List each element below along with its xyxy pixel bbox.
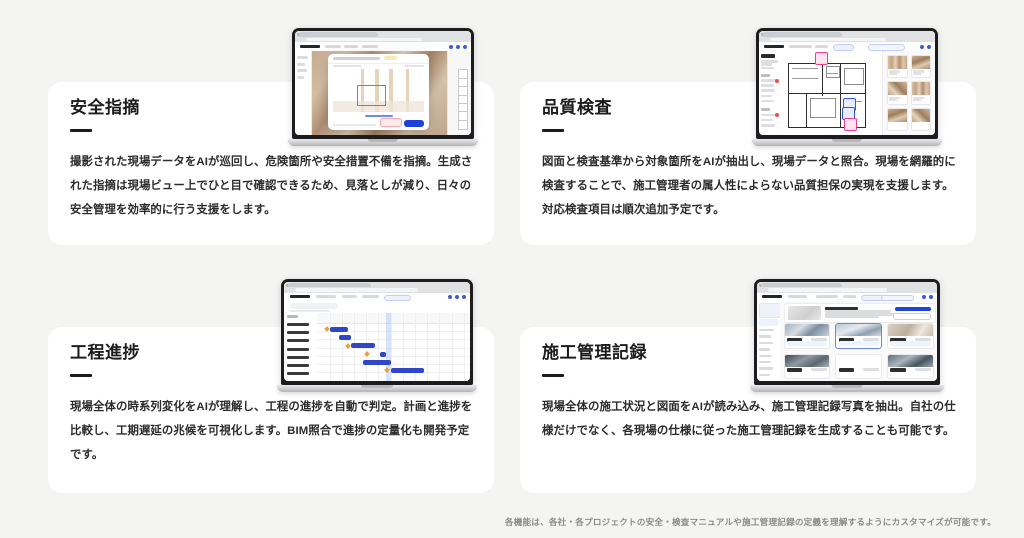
app-logo bbox=[300, 45, 319, 48]
laptop-base bbox=[277, 385, 477, 392]
screen-construction-record bbox=[757, 282, 937, 381]
header-actions-icon[interactable] bbox=[448, 295, 466, 299]
plan-thumbnail[interactable] bbox=[759, 303, 781, 318]
card-body-safety: 撮影された現場データをAIが巡回し、危険箇所や安全措置不備を指摘。生成された指摘… bbox=[70, 151, 474, 222]
title-rule bbox=[542, 129, 564, 132]
card-body-record: 現場全体の施工状況と図面をAIが読み込み、施工管理記録写真を抽出。自社の仕様だけ… bbox=[542, 396, 956, 443]
gantt-bar[interactable] bbox=[339, 335, 351, 340]
finding-photo bbox=[333, 69, 423, 112]
browser-chrome bbox=[284, 282, 470, 293]
gantt-bar[interactable] bbox=[351, 343, 375, 348]
nav-item[interactable] bbox=[362, 45, 378, 48]
severity-badge bbox=[384, 56, 397, 60]
active-view-pill[interactable] bbox=[384, 295, 410, 301]
laptop-base bbox=[750, 385, 944, 392]
gantt-bar[interactable] bbox=[330, 327, 348, 332]
gantt-timeline-header bbox=[317, 313, 470, 324]
header-actions-icon[interactable] bbox=[449, 45, 467, 49]
card-body-quality: 図面と検査基準から対象箇所をAIが抽出し、現場データと照合。現場を網羅的に検査す… bbox=[542, 151, 956, 222]
laptop-base bbox=[752, 139, 942, 146]
record-card[interactable] bbox=[887, 323, 934, 349]
browser-tab[interactable] bbox=[763, 32, 842, 37]
inspection-photo-grid bbox=[882, 51, 935, 135]
secondary-action-button[interactable] bbox=[893, 313, 931, 320]
app-logo bbox=[762, 295, 782, 298]
modal-footnote bbox=[333, 124, 375, 126]
footnote: 各機能は、各社・各プロジェクトの安全・検査マニュアルや施工管理記録の定義を理解す… bbox=[505, 516, 996, 528]
laptop-mockup-quality-inspection-floorplan bbox=[752, 28, 942, 146]
inspection-sidebar bbox=[759, 51, 783, 135]
browser-tab[interactable] bbox=[761, 283, 842, 288]
title-rule bbox=[70, 129, 92, 132]
search-pill[interactable] bbox=[881, 295, 914, 301]
reject-button[interactable] bbox=[380, 118, 402, 127]
browser-chrome bbox=[759, 31, 935, 42]
title-rule bbox=[70, 374, 92, 377]
nav-item[interactable] bbox=[344, 45, 358, 48]
browser-tab[interactable] bbox=[288, 283, 372, 288]
photo-card[interactable] bbox=[911, 55, 931, 78]
laptop-base bbox=[288, 139, 478, 146]
finding-detail-modal[interactable] bbox=[328, 54, 428, 130]
header-actions-icon[interactable] bbox=[920, 45, 931, 49]
nav-item[interactable] bbox=[788, 295, 808, 298]
browser-chrome bbox=[295, 31, 471, 42]
inspection-marker-pink[interactable] bbox=[815, 52, 828, 65]
feature-grid: 安全指摘 撮影された現場データをAIが巡回し、危険箇所や安全措置不備を指摘。生成… bbox=[0, 0, 1024, 538]
gantt-bar[interactable] bbox=[363, 360, 390, 365]
photo-card[interactable] bbox=[911, 81, 931, 104]
record-card[interactable] bbox=[784, 323, 831, 349]
search-pill[interactable] bbox=[868, 44, 905, 50]
modal-meta-left bbox=[333, 65, 361, 68]
record-card[interactable] bbox=[835, 354, 882, 380]
nav-item[interactable] bbox=[362, 295, 379, 298]
task-name-column bbox=[284, 313, 318, 381]
record-card-selected[interactable] bbox=[835, 323, 882, 349]
photo-card[interactable] bbox=[887, 55, 907, 78]
address-bar[interactable] bbox=[306, 38, 422, 41]
screen-quality-inspection bbox=[759, 31, 935, 135]
record-card[interactable] bbox=[784, 354, 831, 380]
nav-item[interactable] bbox=[325, 45, 341, 48]
screen-schedule-gantt bbox=[284, 282, 470, 381]
nav-item[interactable] bbox=[342, 295, 357, 298]
filter-checkbox[interactable] bbox=[290, 310, 331, 312]
nav-item[interactable] bbox=[316, 295, 336, 298]
sidebar-active-item[interactable] bbox=[758, 319, 779, 326]
active-filter-pill[interactable] bbox=[833, 44, 854, 50]
confirm-button[interactable] bbox=[404, 120, 424, 127]
record-sidebar bbox=[757, 301, 781, 381]
detection-bounding-box bbox=[357, 85, 386, 105]
browser-chrome bbox=[757, 282, 937, 293]
modal-link[interactable] bbox=[365, 115, 393, 117]
search-input[interactable] bbox=[290, 303, 338, 308]
floor-plan-drawing[interactable] bbox=[782, 51, 882, 135]
plan-preview-image bbox=[788, 306, 821, 319]
record-photo-cards bbox=[784, 323, 934, 379]
photo-card[interactable] bbox=[887, 108, 907, 131]
address-bar[interactable] bbox=[770, 38, 886, 41]
address-bar[interactable] bbox=[295, 288, 418, 291]
modal-meta-right bbox=[404, 65, 424, 68]
browser-tab[interactable] bbox=[299, 32, 378, 37]
gantt-bar[interactable] bbox=[380, 352, 386, 357]
photo-card[interactable] bbox=[887, 81, 907, 104]
screen-safety-finding-modal bbox=[295, 31, 471, 135]
header-actions-icon[interactable] bbox=[922, 295, 933, 299]
record-card[interactable] bbox=[887, 354, 934, 380]
record-summary-panel bbox=[784, 303, 936, 323]
laptop-mockup-schedule-progress-gantt bbox=[277, 279, 477, 392]
modal-header bbox=[328, 54, 428, 64]
card-body-schedule: 現場全体の時系列変化をAIが理解し、工程の進捗を自動で判定。計画と進捗を比較し、… bbox=[70, 396, 474, 467]
nav-item[interactable] bbox=[789, 45, 812, 48]
title-rule bbox=[542, 374, 564, 377]
laptop-mockup-safety-finding-modal bbox=[288, 28, 478, 146]
address-bar[interactable] bbox=[768, 288, 887, 291]
left-panel bbox=[295, 51, 312, 135]
nav-item[interactable] bbox=[815, 45, 827, 48]
inspection-marker-pink[interactable] bbox=[844, 118, 857, 131]
nav-item[interactable] bbox=[843, 295, 856, 298]
primary-action-button[interactable] bbox=[895, 307, 931, 312]
app-logo bbox=[290, 295, 310, 298]
nav-item[interactable] bbox=[816, 295, 838, 298]
laptop-mockup-construction-record-gallery bbox=[750, 279, 944, 392]
modal-title bbox=[333, 57, 379, 60]
app-logo bbox=[764, 45, 783, 48]
photo-card[interactable] bbox=[911, 108, 931, 131]
gantt-chart[interactable] bbox=[317, 313, 470, 381]
right-thumbnail-strip bbox=[447, 51, 471, 135]
record-main-panel bbox=[780, 301, 937, 381]
gantt-bar[interactable] bbox=[391, 368, 425, 373]
